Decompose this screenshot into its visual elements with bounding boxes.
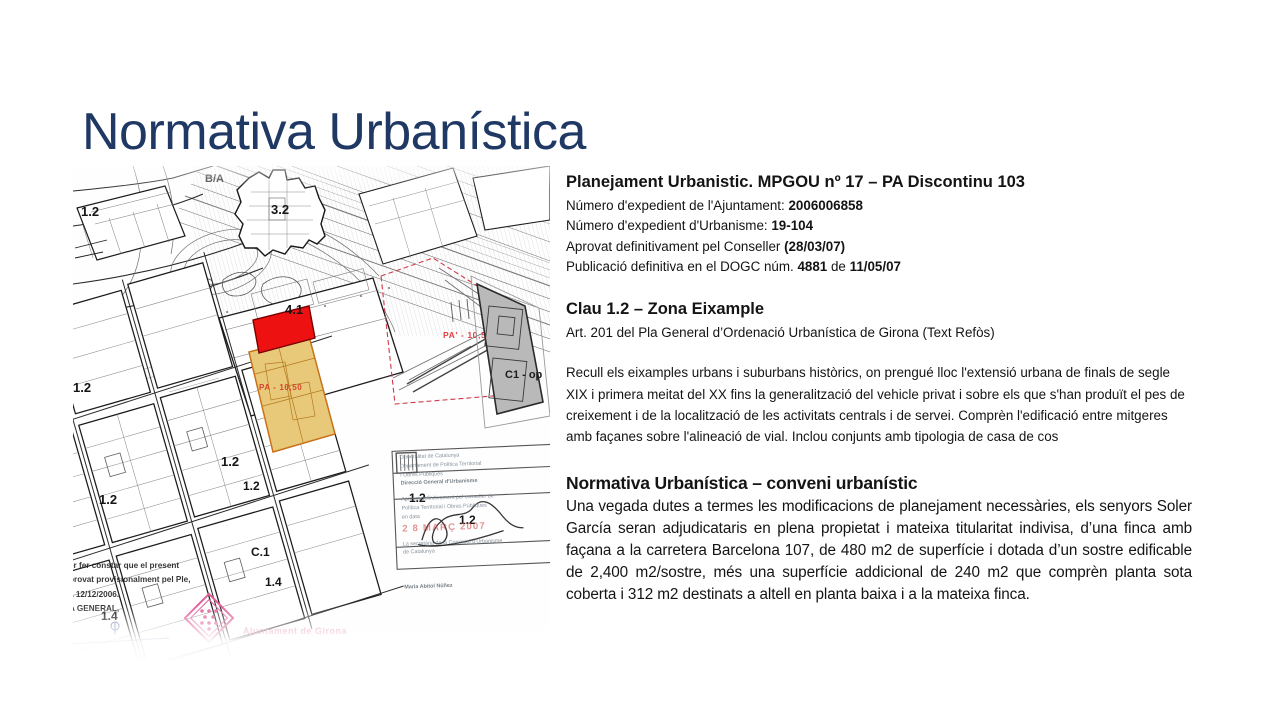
map-label-c1-op: C1 - op <box>505 369 543 381</box>
section3-heading: Normativa Urbanística – conveni urbaníst… <box>566 473 1192 495</box>
row4-date: 11/05/07 <box>850 259 901 274</box>
map-label-13: 1.2 <box>459 513 476 527</box>
document-text-column: Planejament Urbanistic. MPGOU nº 17 – PA… <box>566 172 1192 606</box>
map-label-4: 4.1 <box>285 302 303 317</box>
section1-row-aprovat: Aprovat definitivament pel Conseller (28… <box>566 237 1192 257</box>
row4-label-b: de <box>827 259 849 274</box>
map-label-5: 1.2 <box>73 380 91 395</box>
section3-body: Una vegada dutes a termes les modificaci… <box>566 496 1192 606</box>
map-label-1: 1.2 <box>81 204 99 219</box>
section-conveni: Normativa Urbanística – conveni urbaníst… <box>566 473 1192 606</box>
urban-plan-drawing: PA' - 10,50 C1 - op <box>73 166 550 663</box>
spacer-1 <box>566 277 1192 299</box>
page-title: Normativa Urbanística <box>82 105 982 160</box>
map-label-9: C.1 <box>251 545 270 559</box>
section1-row-expedient-urbanisme: Número d'expedient d'Urbanisme: 19-104 <box>566 216 1192 236</box>
section-clau: Clau 1.2 – Zona Eixample Art. 201 del Pl… <box>566 299 1192 343</box>
map-label-10: 1.4 <box>265 575 282 589</box>
spacer-2 <box>566 343 1192 362</box>
map-label-6: 1.2 <box>221 454 239 469</box>
section1-row-dogc: Publicació definitiva en el DOGC núm. 48… <box>566 257 1192 277</box>
section-planejament: Planejament Urbanistic. MPGOU nº 17 – PA… <box>566 172 1192 277</box>
row4-num: 4881 <box>797 259 827 274</box>
row4-label-a: Publicació definitiva en el DOGC núm. <box>566 259 797 274</box>
row3-label: Aprovat definitivament pel Conseller <box>566 239 784 254</box>
map-parcel-label-pa: PA - 10,50 <box>259 383 302 392</box>
section2-heading: Clau 1.2 – Zona Eixample <box>566 299 1192 320</box>
spacer-3 <box>566 447 1192 473</box>
map-label-11: 1.4 <box>101 609 118 623</box>
map-label-7: 1.2 <box>99 492 117 507</box>
row2-label: Número d'expedient d'Urbanisme: <box>566 218 771 233</box>
row3-value: (28/03/07) <box>784 239 845 254</box>
section2-body: Recull els eixamples urbans i suburbans … <box>566 362 1192 447</box>
map-label-2: 3.2 <box>271 202 289 217</box>
section2-subheading: Art. 201 del Pla General d’Ordenació Urb… <box>566 323 1192 343</box>
map-label-8: 1.2 <box>243 479 260 493</box>
section1-row-expedient-ajuntament: Número d'expedient de l'Ajuntament: 2006… <box>566 196 1192 216</box>
row1-label: Número d'expedient de l'Ajuntament: <box>566 198 788 213</box>
slide-canvas: Normativa Urbanística <box>0 0 1280 720</box>
row1-value: 2006006858 <box>788 198 862 213</box>
cadastral-map-figure: PA' - 10,50 C1 - op <box>73 166 550 663</box>
seal-caption: Ajuntament de Girona <box>243 626 348 636</box>
row2-value: 19-104 <box>771 218 813 233</box>
section1-heading: Planejament Urbanistic. MPGOU nº 17 – PA… <box>566 172 1192 193</box>
